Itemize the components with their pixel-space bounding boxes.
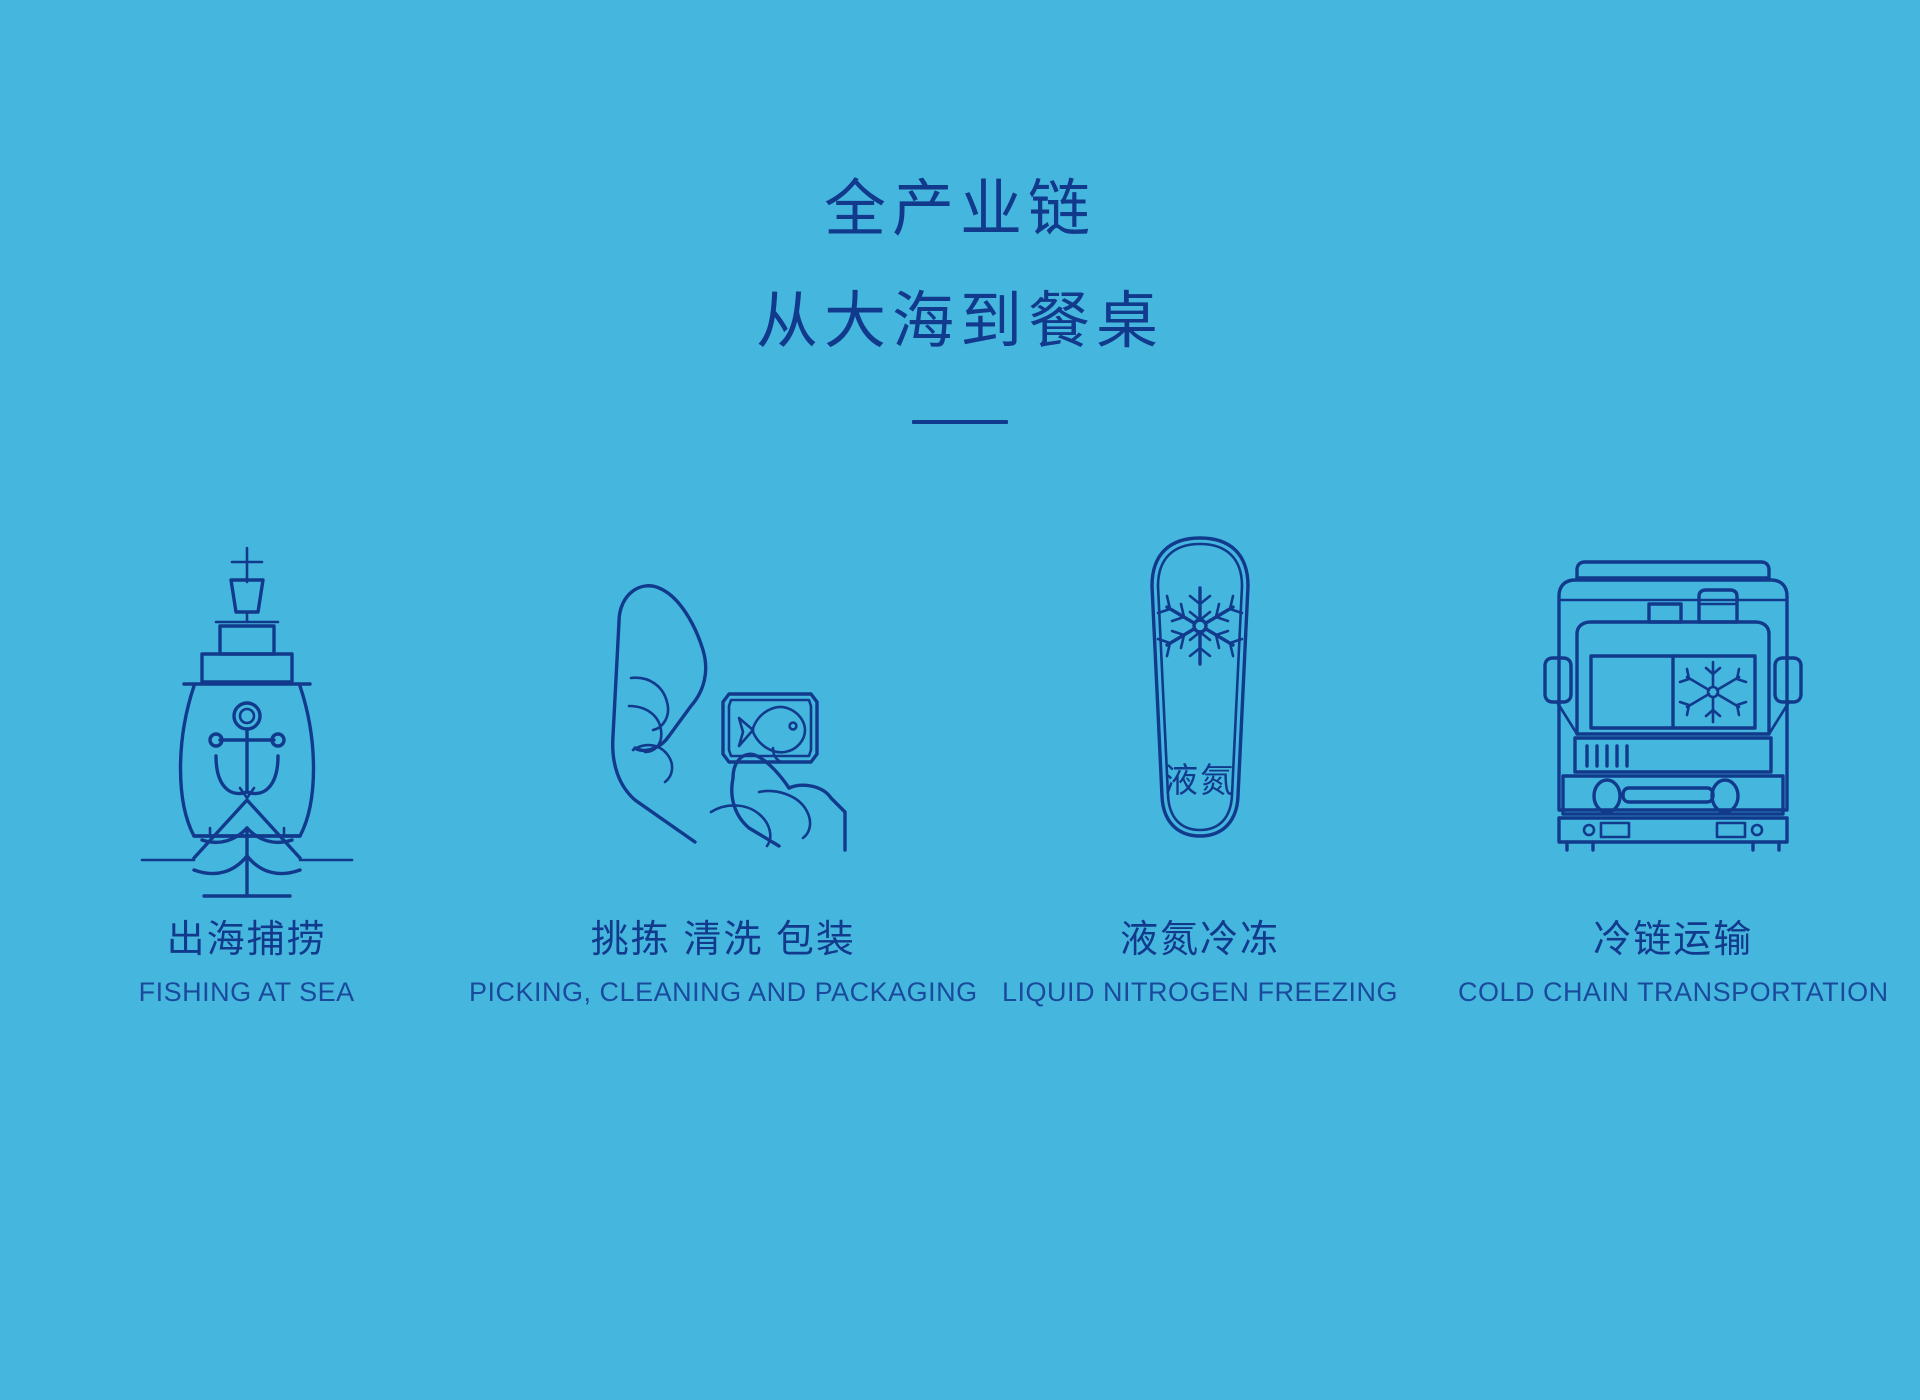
step-label-en: FISHING AT SEA (139, 972, 355, 1012)
step-labels: 出海捕捞 FISHING AT SEA (139, 916, 355, 1012)
step-labels: 挑拣 清洗 包装 PICKING, CLEANING AND PACKAGING (469, 916, 978, 1012)
step-fishing-at-sea[interactable]: 出海捕捞 FISHING AT SEA (10, 520, 483, 1012)
step-label-cn: 挑拣 清洗 包装 (469, 916, 978, 964)
step-label-cn: 液氮冷冻 (1002, 916, 1398, 964)
step-picking-cleaning-packaging[interactable]: 挑拣 清洗 包装 PICKING, CLEANING AND PACKAGING (483, 520, 963, 1012)
step-label-en: LIQUID NITROGEN FREEZING (1002, 972, 1398, 1012)
step-label-cn: 冷链运输 (1458, 916, 1889, 964)
title-divider (912, 420, 1008, 424)
infographic-page: 全产业链 从大海到餐桌 (0, 0, 1920, 1400)
step-icon-container: 液氮 (1120, 520, 1280, 850)
snowflake-icon (1680, 662, 1746, 722)
step-label-en: COLD CHAIN TRANSPORTATION (1458, 972, 1889, 1012)
step-label-cn: 出海捕捞 (139, 916, 355, 964)
page-title-line-2: 从大海到餐桌 (0, 270, 1920, 374)
step-labels: 液氮冷冻 LIQUID NITROGEN FREEZING (1002, 916, 1398, 1012)
snowflake-icon (1158, 588, 1242, 664)
step-icon-container (583, 520, 863, 850)
step-labels: 冷链运输 COLD CHAIN TRANSPORTATION (1458, 916, 1889, 1012)
step-label-en: PICKING, CLEANING AND PACKAGING (469, 972, 978, 1012)
tank-label-text: 液氮 (1164, 762, 1236, 800)
step-cold-chain-transportation[interactable]: 冷链运输 COLD CHAIN TRANSPORTATION (1437, 520, 1910, 1012)
refrigerated-truck-icon (1533, 538, 1813, 850)
page-title-line-1: 全产业链 (0, 158, 1920, 262)
step-icon-container (1533, 520, 1813, 850)
fishing-boat-icon (132, 540, 362, 850)
page-header: 全产业链 从大海到餐桌 (0, 0, 1920, 424)
process-steps-row: 出海捕捞 FISHING AT SEA (0, 520, 1920, 1012)
step-liquid-nitrogen-freezing[interactable]: 液氮 液氮冷冻 LIQUID NITROGEN FREEZING (963, 520, 1436, 1012)
liquid-nitrogen-tank-icon: 液氮 (1120, 530, 1280, 850)
hands-with-packaged-fish-icon (583, 550, 863, 850)
step-icon-container (132, 520, 362, 850)
